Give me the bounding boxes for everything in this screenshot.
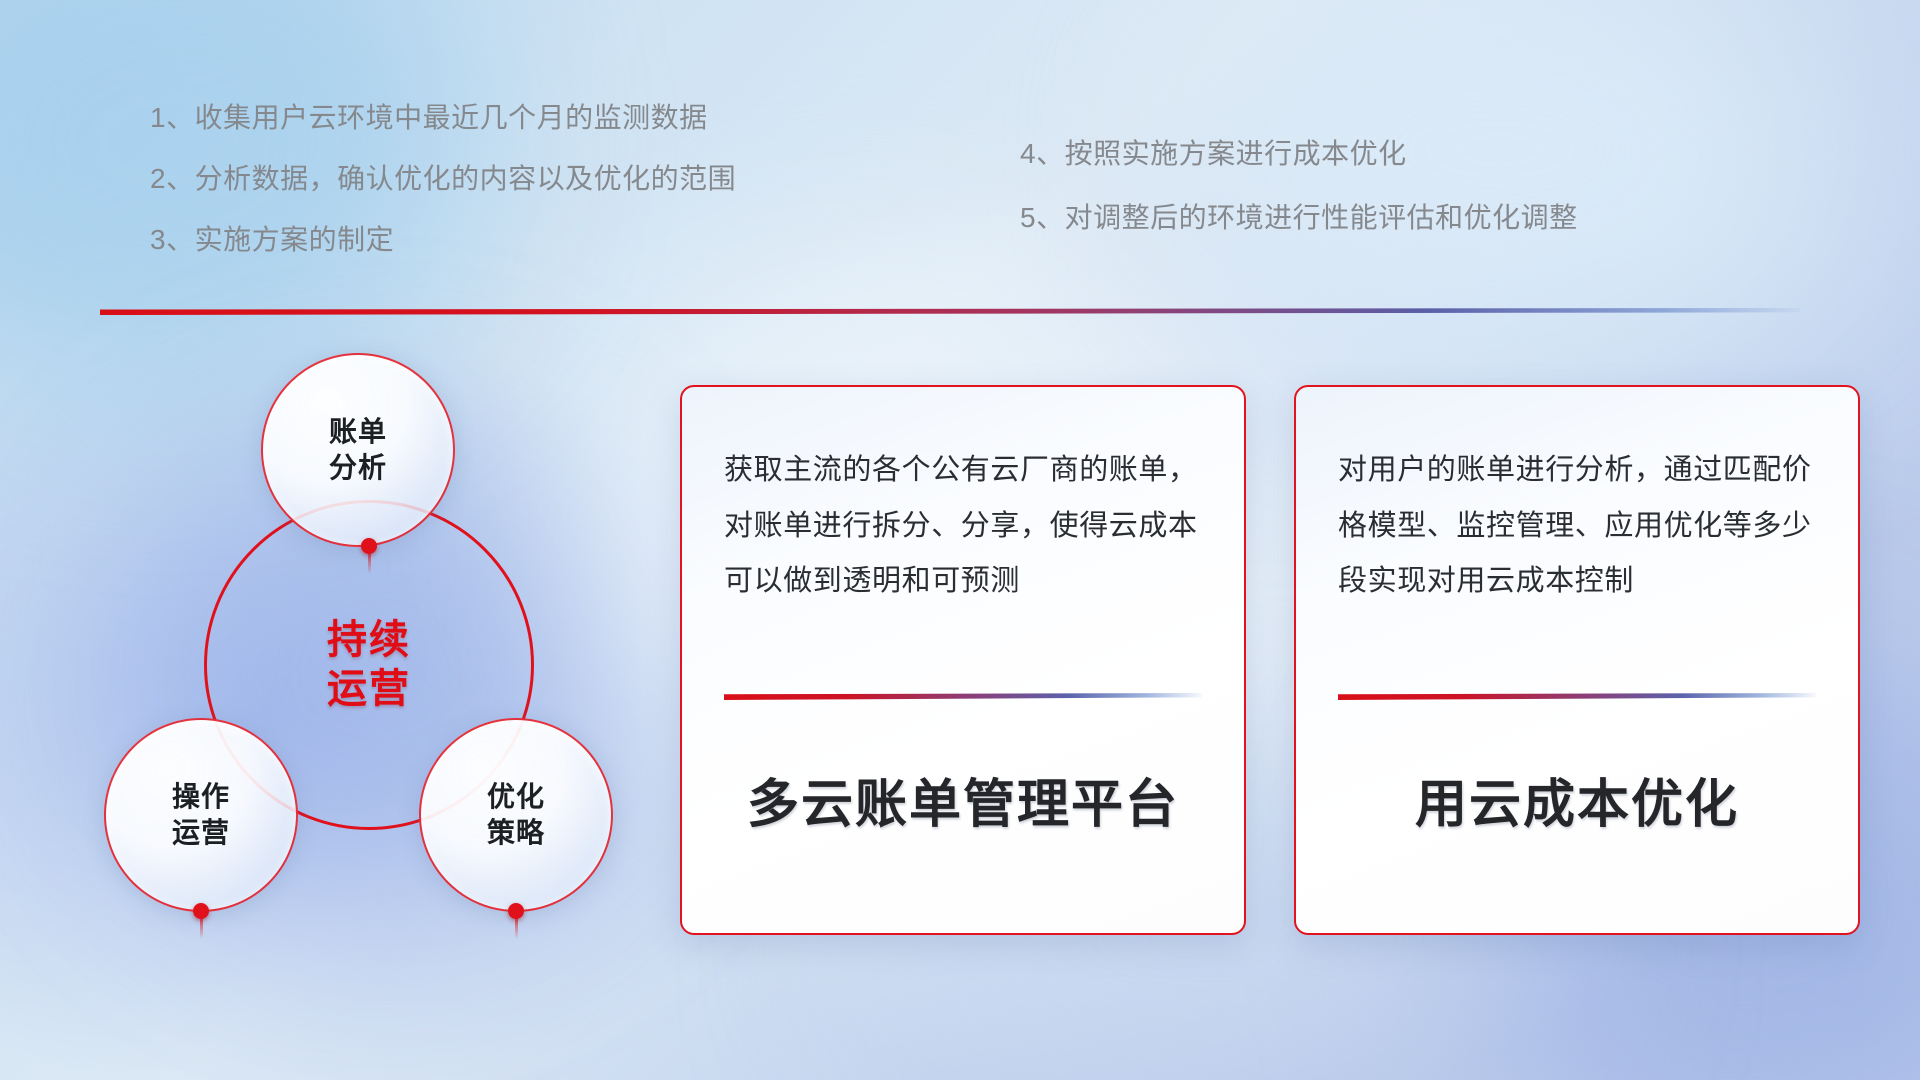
divider-rule [100, 308, 1800, 315]
node-tail [515, 917, 518, 939]
node-dot-left [193, 903, 209, 919]
cards-section: 获取主流的各个公有云厂商的账单，对账单进行拆分、分享，使得云成本可以做到透明和可… [680, 385, 1860, 935]
steps-section: 1、收集用户云环境中最近几个月的监测数据 2、分析数据，确认优化的内容以及优化的… [150, 104, 1790, 287]
node-tail [368, 552, 371, 574]
center-label-line1: 持续 [327, 616, 411, 665]
card-multicloud-billing-platform[interactable]: 获取主流的各个公有云厂商的账单，对账单进行拆分、分享，使得云成本可以做到透明和可… [680, 385, 1246, 935]
slide-canvas: 1、收集用户云环境中最近几个月的监测数据 2、分析数据，确认优化的内容以及优化的… [0, 0, 1920, 1080]
bubble-line2: 策略 [487, 815, 545, 851]
step-item-4: 4、按照实施方案进行成本优化 [1020, 140, 1780, 168]
bubble-line2: 运营 [172, 815, 230, 851]
steps-left-column: 1、收集用户云环境中最近几个月的监测数据 2、分析数据，确认优化的内容以及优化的… [150, 104, 1020, 287]
bubble-operations[interactable]: 操作 运营 [104, 718, 298, 912]
section-divider [100, 308, 1800, 320]
card-body-text: 对用户的账单进行分析，通过匹配价格模型、监控管理、应用优化等多少段实现对用云成本… [1338, 443, 1816, 679]
center-label-line2: 运营 [327, 665, 411, 714]
node-dot-top [361, 538, 377, 554]
steps-right-column: 4、按照实施方案进行成本优化 5、对调整后的环境进行性能评估和优化调整 [1020, 104, 1780, 287]
card-cloud-cost-optimization[interactable]: 对用户的账单进行分析，通过匹配价格模型、监控管理、应用优化等多少段实现对用云成本… [1294, 385, 1860, 935]
card-accent-rule [724, 693, 1202, 700]
card-body-text: 获取主流的各个公有云厂商的账单，对账单进行拆分、分享，使得云成本可以做到透明和可… [724, 443, 1202, 679]
bubble-line1: 操作 [172, 779, 230, 815]
node-dot-right [508, 903, 524, 919]
step-item-2: 2、分析数据，确认优化的内容以及优化的范围 [150, 165, 1020, 193]
node-tail [200, 917, 203, 939]
step-item-5: 5、对调整后的环境进行性能评估和优化调整 [1020, 204, 1780, 232]
card-title: 多云账单管理平台 [724, 762, 1202, 837]
venn-diagram: 持续 运营 账单 分析 操作 运营 优化 策略 [96, 340, 636, 950]
bubble-line2: 分析 [329, 450, 387, 486]
bubble-line1: 账单 [329, 414, 387, 450]
bubble-billing-analysis[interactable]: 账单 分析 [261, 353, 455, 547]
step-item-1: 1、收集用户云环境中最近几个月的监测数据 [150, 104, 1020, 132]
bubble-line1: 优化 [487, 779, 545, 815]
card-title: 用云成本优化 [1338, 762, 1816, 837]
step-item-3: 3、实施方案的制定 [150, 226, 1020, 254]
bubble-optimization-strategy[interactable]: 优化 策略 [419, 718, 613, 912]
card-accent-rule [1338, 693, 1816, 700]
